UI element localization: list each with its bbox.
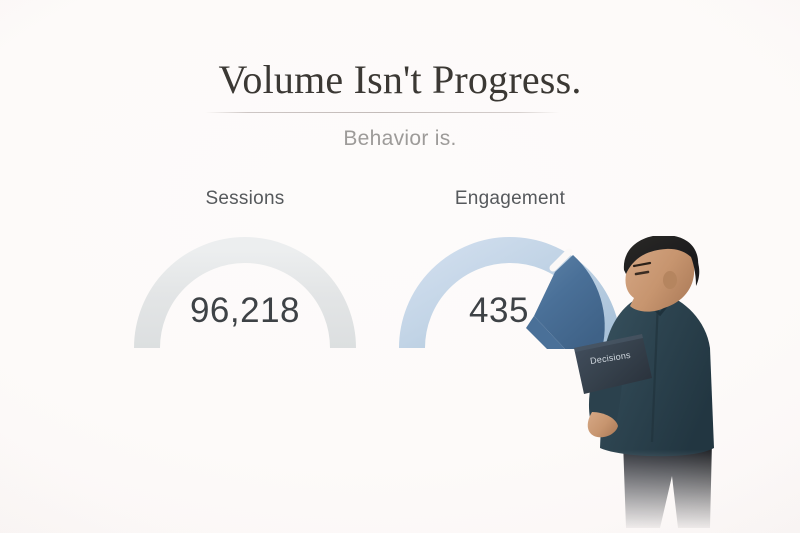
gauge-sessions-label: Sessions bbox=[130, 188, 360, 210]
gauge-sessions-value: 96,218 bbox=[130, 291, 360, 331]
person-ear bbox=[663, 271, 677, 289]
page-subtitle: Behavior is. bbox=[0, 127, 800, 151]
gauge-sessions: Sessions 96,218 bbox=[130, 188, 360, 363]
gauge-engagement-label: Engagement bbox=[395, 188, 625, 210]
page-title: Volume Isn't Progress. bbox=[0, 56, 800, 103]
title-divider bbox=[205, 112, 560, 113]
person-illustration bbox=[560, 236, 800, 533]
person-figure bbox=[560, 236, 800, 533]
slide-canvas: Volume Isn't Progress. Behavior is. Sess… bbox=[0, 0, 800, 533]
